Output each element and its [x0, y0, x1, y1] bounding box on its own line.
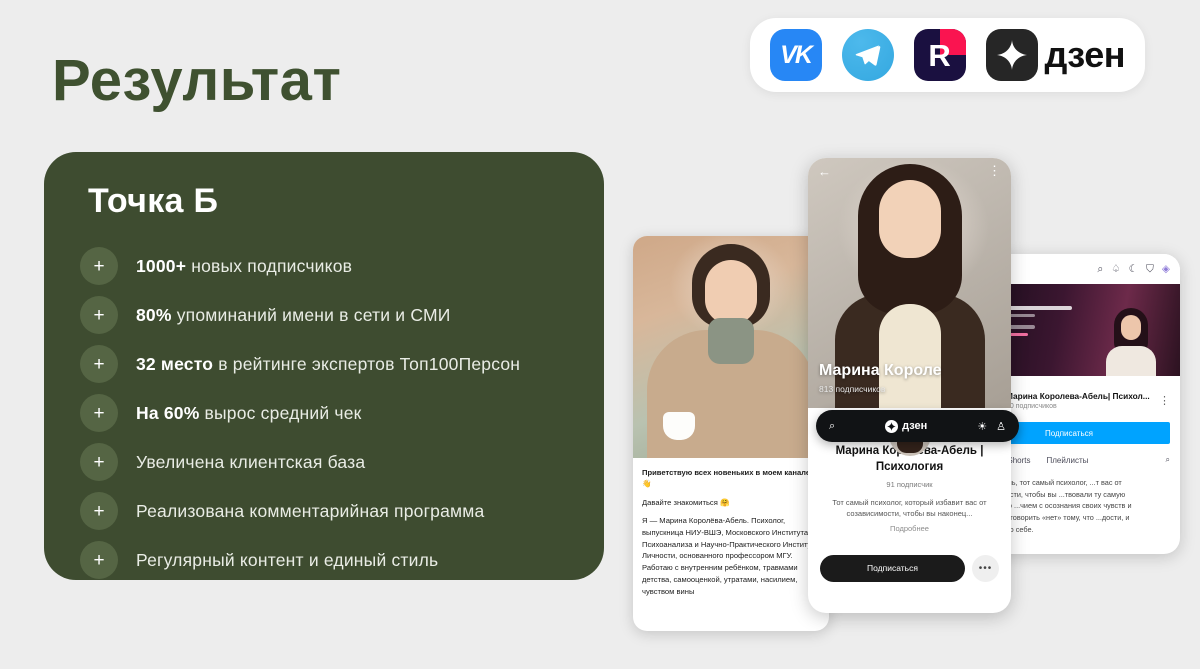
- search-icon[interactable]: ⌕: [1097, 263, 1103, 276]
- telegram-icon[interactable]: [842, 29, 894, 81]
- dzen-icon[interactable]: дзен: [986, 29, 1125, 81]
- tab-playlists[interactable]: Плейлисты: [1047, 456, 1089, 465]
- moon-icon[interactable]: ☾: [1129, 263, 1138, 275]
- dzen-pill-right-icons: ☀ ♙: [977, 420, 1006, 433]
- kebab-menu-icon[interactable]: ⋮: [1159, 394, 1170, 407]
- shield-icon[interactable]: ⛉: [1146, 263, 1154, 276]
- telegram-post-line-1: Приветствую всех новеньких в моем канале…: [642, 467, 820, 490]
- page-title: Результат: [52, 52, 341, 110]
- rutube-channel-meta: Марина Королева-Абель| Психол... 40 подп…: [1006, 391, 1151, 410]
- plus-icon: +: [80, 296, 118, 334]
- banner-portrait: [1104, 308, 1158, 376]
- list-item: + Увеличена клиентская база: [80, 442, 584, 482]
- screenshot-collage: Приветствую всех новеньких в моем канале…: [628, 158, 1180, 638]
- dzen-action-row: Подписаться •••: [808, 545, 1011, 582]
- bullet-label: На 60% вырос средний чек: [136, 403, 362, 424]
- bullet-rest: в рейтинге экспертов Топ100Персон: [213, 354, 520, 374]
- bullet-label: Регулярный контент и единый стиль: [136, 550, 438, 571]
- plus-icon: +: [80, 345, 118, 383]
- bullet-list: + 1000+ новых подписчиков + 80% упоминан…: [80, 246, 584, 580]
- brightness-icon[interactable]: ☀: [977, 420, 987, 433]
- dzen-pill-logo[interactable]: дзен: [885, 420, 927, 433]
- dzen-wordmark: дзен: [1045, 34, 1125, 76]
- list-item: + 32 место в рейтинге экспертов Топ100Пе…: [80, 344, 584, 384]
- rutube-channel-subscribers: 40 подписчиков: [1006, 403, 1151, 410]
- dzen-floating-bar: ⌕ дзен ☀ ♙: [816, 410, 1019, 442]
- dzen-star-icon: [885, 420, 898, 433]
- dzen-pill-label: дзен: [902, 420, 927, 432]
- kebab-menu-icon[interactable]: ⋮: [988, 163, 1001, 179]
- telegram-post-body: Я — Марина Королёва-Абель. Психолог, вып…: [642, 515, 820, 597]
- plus-icon: +: [80, 247, 118, 285]
- list-item: + Реализована комментарийная программа: [80, 491, 584, 531]
- vk-icon-label: VK: [780, 41, 811, 70]
- bullet-rest: Реализована комментарийная программа: [136, 501, 484, 521]
- telegram-post-line-2: Давайте знакомиться 🤗: [642, 497, 820, 508]
- results-card: Точка Б + 1000+ новых подписчиков + 80% …: [44, 152, 604, 580]
- dzen-mockup: ← ⋮ Марина Короле 813 подписчиков Марина…: [808, 158, 1011, 613]
- plus-icon: +: [80, 443, 118, 481]
- dzen-cover-name: Марина Короле: [819, 362, 942, 380]
- plus-icon: +: [80, 394, 118, 432]
- bullet-label: Реализована комментарийная программа: [136, 501, 484, 522]
- rutube-header-icons: ⌕ ♤ ☾ ⛉ ◈: [1097, 263, 1170, 276]
- dzen-cover-photo: ← ⋮ Марина Короле 813 подписчиков: [808, 158, 1011, 408]
- list-item: + 1000+ новых подписчиков: [80, 246, 584, 286]
- dzen-profile-description: Тот самый психолог, который избавит вас …: [820, 497, 999, 520]
- vk-icon[interactable]: VK: [770, 29, 822, 81]
- plus-icon: +: [80, 541, 118, 579]
- back-icon[interactable]: ←: [818, 164, 831, 179]
- bullet-strong: 1000+: [136, 256, 186, 276]
- bullet-rest: новых подписчиков: [186, 256, 352, 276]
- telegram-post-photo: [633, 236, 829, 458]
- dzen-cover-subscribers: 813 подписчиков: [819, 384, 885, 394]
- bullet-label: Увеличена клиентская база: [136, 452, 365, 473]
- telegram-mockup: Приветствую всех новеньких в моем канале…: [633, 236, 829, 631]
- diamond-icon[interactable]: ◈: [1162, 263, 1170, 275]
- dzen-profile-subscribers: 91 подписчик: [820, 480, 999, 489]
- search-icon[interactable]: ⌕: [1166, 455, 1170, 465]
- plus-icon: +: [80, 492, 118, 530]
- rutube-channel-name: Марина Королева-Абель| Психол...: [1006, 391, 1151, 401]
- rutube-icon-label: R: [928, 40, 950, 71]
- bell-icon[interactable]: ♤: [1111, 263, 1120, 275]
- dzen-topbar: ← ⋮: [808, 158, 1011, 184]
- bullet-strong: 80%: [136, 305, 172, 325]
- bullet-strong: На 60%: [136, 403, 199, 423]
- bullet-label: 32 место в рейтинге экспертов Топ100Перс…: [136, 354, 520, 375]
- bullet-rest: упоминаний имени в сети и СМИ: [172, 305, 451, 325]
- dzen-more-link[interactable]: Подробнее: [820, 524, 999, 533]
- list-item: + На 60% вырос средний чек: [80, 393, 584, 433]
- list-item: + Регулярный контент и единый стиль: [80, 540, 584, 580]
- list-item: + 80% упоминаний имени в сети и СМИ: [80, 295, 584, 335]
- bullet-rest: вырос средний чек: [199, 403, 361, 423]
- bullet-rest: Увеличена клиентская база: [136, 452, 365, 472]
- card-heading: Точка Б: [88, 182, 218, 221]
- dzen-subscribe-button[interactable]: Подписаться: [820, 555, 965, 582]
- search-icon[interactable]: ⌕: [829, 420, 835, 433]
- dzen-star-icon: [986, 29, 1038, 81]
- bullet-label: 80% упоминаний имени в сети и СМИ: [136, 305, 451, 326]
- bullet-strong: 32 место: [136, 354, 213, 374]
- dzen-overflow-button[interactable]: •••: [972, 555, 999, 582]
- account-icon[interactable]: ♙: [996, 420, 1006, 433]
- telegram-post-text: Приветствую всех новеньких в моем канале…: [633, 458, 829, 598]
- bullet-label: 1000+ новых подписчиков: [136, 256, 352, 277]
- social-icon-bar: VK R дзен: [750, 18, 1145, 92]
- rutube-icon[interactable]: R: [914, 29, 966, 81]
- bullet-rest: Регулярный контент и единый стиль: [136, 550, 438, 570]
